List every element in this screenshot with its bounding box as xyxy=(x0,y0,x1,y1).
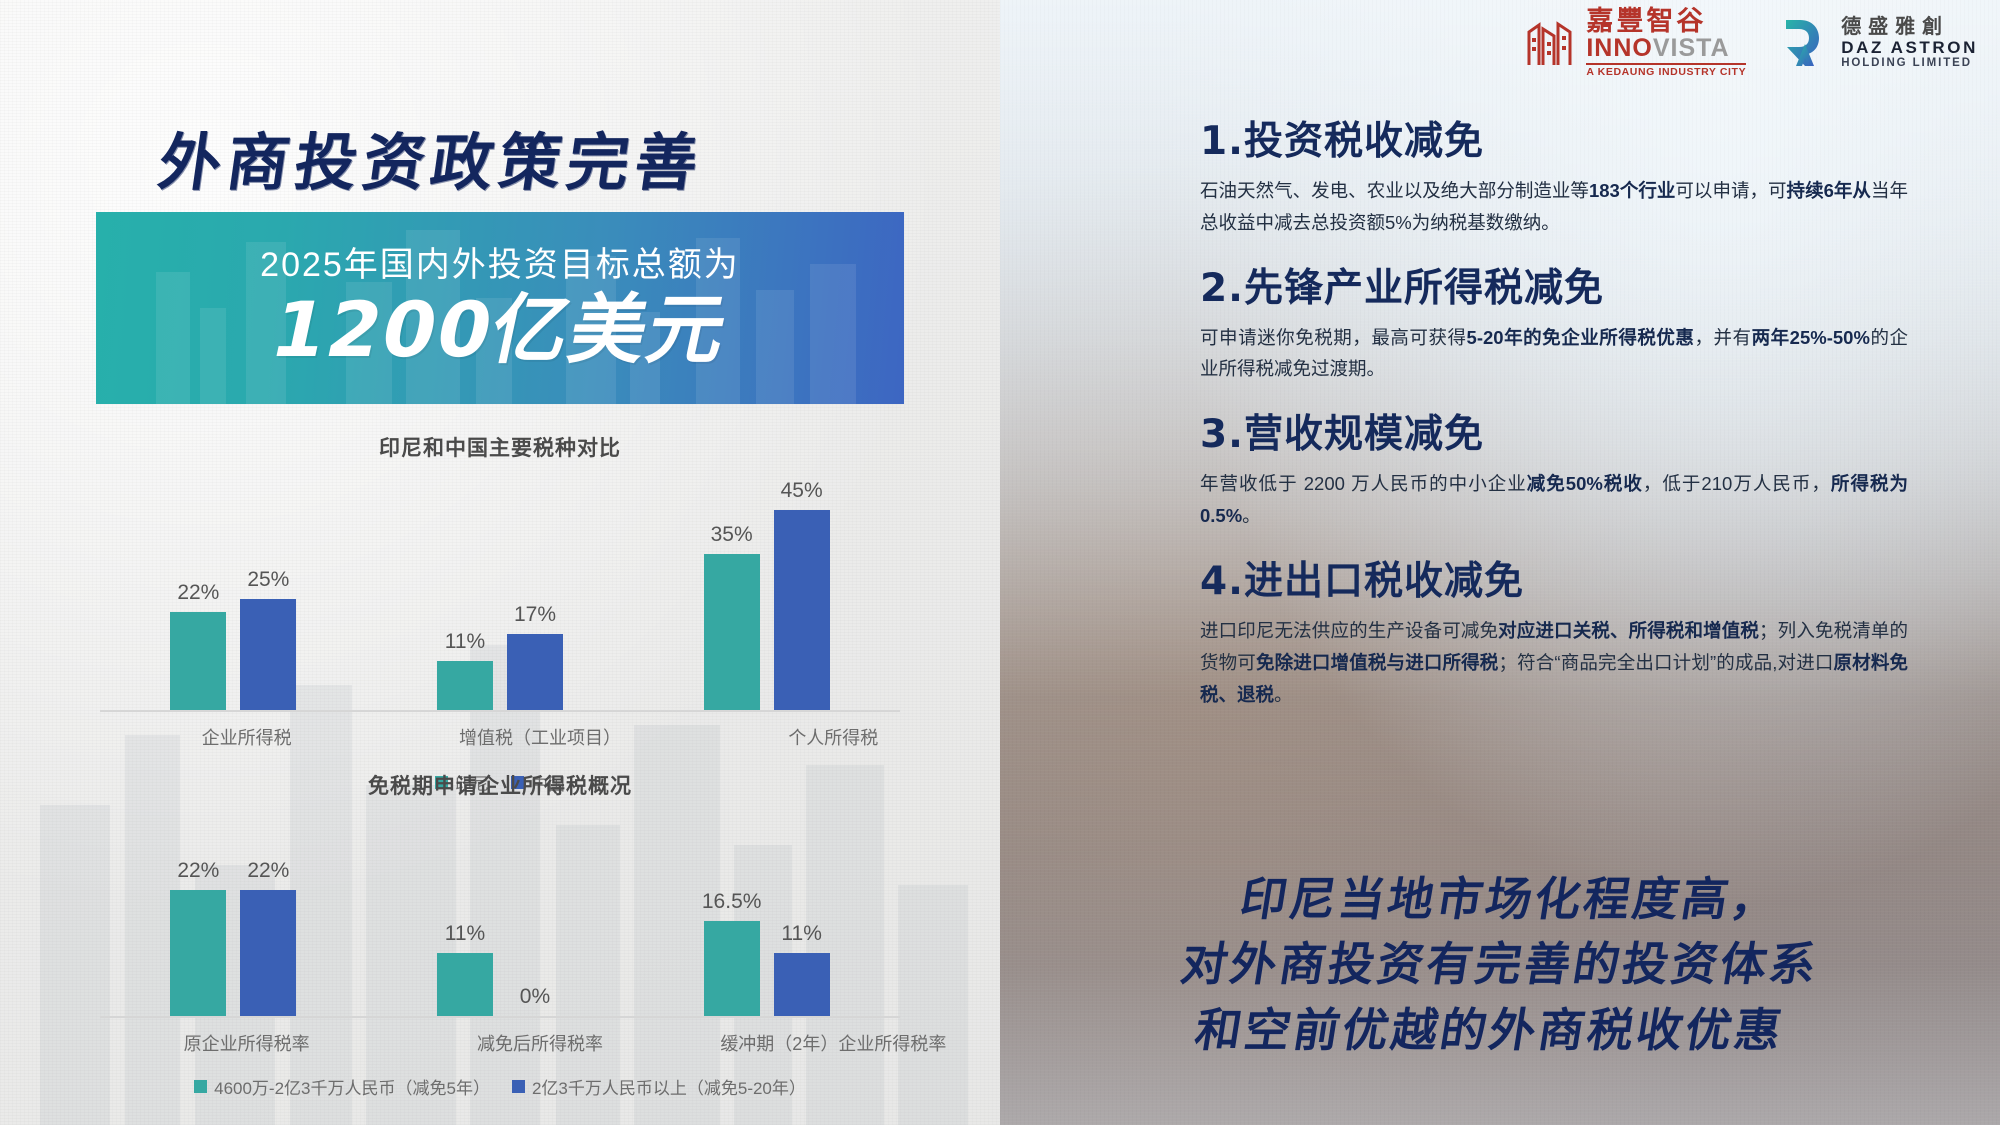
x-label: 缓冲期（2年）企业所得税率 xyxy=(688,1030,978,1056)
legend-swatch-icon xyxy=(512,1080,525,1093)
legend-label: 4600万-2亿3千万人民币（减免5年） xyxy=(214,1074,490,1099)
body-bold: 免除进口增值税与进口所得税 xyxy=(1256,652,1499,673)
bar-group: 22% 25% xyxy=(170,599,296,710)
body-text: 年营收低于 2200 万人民币的中小企业 xyxy=(1200,473,1527,494)
bar-value-label: 45% xyxy=(781,479,823,503)
banner-subtitle: 2025年国内外投资目标总额为 xyxy=(96,237,904,286)
bar-group: 11% 17% xyxy=(437,634,563,710)
body-text: ，并有 xyxy=(1694,327,1751,348)
bar-group: 22% 22% xyxy=(170,890,296,1016)
innovista-building-icon xyxy=(1524,16,1578,70)
bar-value-label: 35% xyxy=(711,523,753,547)
x-label: 个人所得税 xyxy=(688,724,978,750)
chart-1-bars: 22% 25% 11% xyxy=(100,512,900,710)
daz-astron-cn-name: 德盛雅創 xyxy=(1841,15,1978,38)
bar-value-label: 0% xyxy=(520,985,550,1009)
body-bold: 减免50%税收 xyxy=(1527,473,1643,494)
chart-1-title: 印尼和中国主要税种对比 xyxy=(60,432,940,462)
body-text: 进口印尼无法供应的生产设备可减免 xyxy=(1200,620,1498,641)
bar-item[interactable]: 22% xyxy=(170,890,226,1016)
daz-astron-subtitle: HOLDING LIMITED xyxy=(1841,57,1978,70)
bar-blue xyxy=(240,599,296,710)
x-label: 增值税（工业项目） xyxy=(395,724,685,750)
bar-teal xyxy=(704,921,760,1016)
x-label: 原企业所得税率 xyxy=(101,1030,391,1056)
section-body: 进口印尼无法供应的生产设备可减免对应进口关税、所得税和增值税；列入免税清单的货物… xyxy=(1200,615,1908,710)
policy-section-4: 4.进出口税收减免 进口印尼无法供应的生产设备可减免对应进口关税、所得税和增值税… xyxy=(1200,550,1908,710)
body-text: 可申请迷你免税期，最高可获得 xyxy=(1200,327,1467,348)
bar-item[interactable]: 17% xyxy=(507,634,563,710)
bar-value-label: 17% xyxy=(514,603,556,627)
bar-value-label: 16.5% xyxy=(702,890,762,914)
bar-item[interactable]: 22% xyxy=(170,612,226,710)
bar-teal xyxy=(170,890,226,1016)
body-bold: 183个行业 xyxy=(1589,180,1675,201)
policy-section-1: 1.投资税收减免 石油天然气、发电、农业以及绝大部分制造业等183个行业可以申请… xyxy=(1200,110,1908,239)
left-panel: 外商投资政策完善 2025年国内外投资目标总额为 1200 xyxy=(0,0,1000,1125)
conclusion-line-1: 印尼当地市场化程度高， xyxy=(1005,867,2000,932)
body-text: 可以申请，可 xyxy=(1675,180,1786,201)
conclusion-block: 印尼当地市场化程度高， 对外商投资有完善的投资体系 和空前优越的外商税收优惠 xyxy=(1000,867,2000,1063)
innovista-tagline: A KEDAUNG INDUSTRY CITY xyxy=(1586,63,1746,78)
bar-group: 16.5% 11% xyxy=(704,921,830,1016)
section-body: 年营收低于 2200 万人民币的中小企业减免50%税收，低于210万人民币，所得… xyxy=(1200,468,1908,532)
chart-1: 印尼和中国主要税种对比 22% 25% xyxy=(60,432,940,795)
body-bold: 持续6年从 xyxy=(1787,180,1871,201)
chart-1-axis xyxy=(100,710,900,712)
body-bold: 5-20年的免企业所得税优惠 xyxy=(1467,327,1695,348)
chart-2-title: 免税期申请企业所得税概况 xyxy=(60,770,940,800)
infographic-page: 外商投资政策完善 2025年国内外投资目标总额为 1200 xyxy=(0,0,2000,1125)
bar-value-label: 11% xyxy=(445,922,485,946)
body-bold: 两年25%-50% xyxy=(1752,327,1870,348)
legend-item[interactable]: 2亿3千万人民币以上（减免5-20年） xyxy=(512,1074,806,1099)
policy-section-3: 3.营收规模减免 年营收低于 2200 万人民币的中小企业减免50%税收，低于2… xyxy=(1200,403,1908,532)
section-heading: 3.营收规模减免 xyxy=(1200,403,1908,459)
section-heading: 2.先锋产业所得税减免 xyxy=(1200,257,1908,313)
chart-2: 免税期申请企业所得税概况 22% 22% xyxy=(60,770,940,1099)
chart-2-bars: 22% 22% 11% xyxy=(100,846,900,1016)
bar-group: 35% 45% xyxy=(704,510,830,710)
chart-2-legend: 4600万-2亿3千万人民币（减免5年） 2亿3千万人民币以上（减免5-20年） xyxy=(60,1074,940,1099)
bar-teal xyxy=(704,554,760,710)
bar-item[interactable]: 22% xyxy=(240,890,296,1016)
banner-amount: 1200亿美元 xyxy=(96,290,904,370)
section-body: 石油天然气、发电、农业以及绝大部分制造业等183个行业可以申请，可持续6年从当年… xyxy=(1200,175,1908,239)
body-text: 。 xyxy=(1274,684,1293,705)
daz-astron-mark-icon xyxy=(1772,14,1830,72)
chart-2-plot: 22% 22% 11% xyxy=(60,846,940,1018)
conclusion-line-3: 和空前优越的外商税收优惠 xyxy=(1000,998,1995,1063)
body-text: ；符合“商品完全出口计划”的成品,对进口 xyxy=(1498,652,1833,673)
legend-swatch-icon xyxy=(194,1080,207,1093)
bar-value-label: 11% xyxy=(445,630,485,654)
body-text: 石油天然气、发电、农业以及绝大部分制造业等 xyxy=(1200,180,1589,201)
x-label: 企业所得税 xyxy=(101,724,391,750)
bar-item[interactable]: 35% xyxy=(704,554,760,710)
innovista-en-2: VISTA xyxy=(1653,34,1730,62)
legend-item[interactable]: 4600万-2亿3千万人民币（减免5年） xyxy=(194,1074,490,1099)
bar-blue xyxy=(774,953,830,1016)
bar-blue xyxy=(774,510,830,710)
chart-1-plot: 22% 25% 11% xyxy=(60,512,940,712)
bar-value-label: 22% xyxy=(247,859,289,883)
bar-item[interactable]: 11% xyxy=(437,661,493,710)
innovista-en-1: INNO xyxy=(1586,34,1653,62)
headline-banner: 2025年国内外投资目标总额为 1200亿美元 xyxy=(96,212,904,404)
section-heading: 4.进出口税收减免 xyxy=(1200,550,1908,606)
bar-value-label: 22% xyxy=(177,581,219,605)
bar-value-label: 11% xyxy=(781,922,821,946)
bar-item[interactable]: 11% xyxy=(437,953,493,1016)
section-body: 可申请迷你免税期，最高可获得5-20年的免企业所得税优惠，并有两年25%-50%… xyxy=(1200,322,1908,386)
bar-item[interactable]: 16.5% xyxy=(704,921,760,1016)
conclusion-line-2: 对外商投资有完善的投资体系 xyxy=(1000,932,2000,997)
innovista-cn-name: 嘉豐智谷 xyxy=(1586,8,1746,35)
bar-blue xyxy=(507,634,563,710)
body-text: 。 xyxy=(1242,505,1261,526)
chart-1-x-labels: 企业所得税 增值税（工业项目） 个人所得税 xyxy=(100,724,980,750)
x-label: 减免后所得税率 xyxy=(395,1030,685,1056)
bar-item[interactable]: 25% xyxy=(240,599,296,710)
chart-2-x-labels: 原企业所得税率 减免后所得税率 缓冲期（2年）企业所得税率 xyxy=(100,1030,980,1056)
bar-value-label: 25% xyxy=(247,568,289,592)
daz-astron-en-name: DAZ ASTRON xyxy=(1841,38,1978,58)
bar-value-label: 22% xyxy=(177,859,219,883)
section-heading: 1.投资税收减免 xyxy=(1200,110,1908,166)
policy-section-2: 2.先锋产业所得税减免 可申请迷你免税期，最高可获得5-20年的免企业所得税优惠… xyxy=(1200,257,1908,386)
bar-blue xyxy=(240,890,296,1016)
bar-group: 11% 0% xyxy=(437,953,563,1016)
bar-item[interactable]: 11% xyxy=(774,953,830,1016)
bar-item[interactable]: 45% xyxy=(774,510,830,710)
logo-daz-astron: 德盛雅創 DAZ ASTRON HOLDING LIMITED xyxy=(1772,14,1978,72)
page-title: 外商投资政策完善 xyxy=(154,112,711,202)
body-bold: 对应进口关税、所得税和增值税 xyxy=(1498,620,1759,641)
policy-sections: 1.投资税收减免 石油天然气、发电、农业以及绝大部分制造业等183个行业可以申请… xyxy=(1200,110,1908,728)
bar-teal xyxy=(437,953,493,1016)
bar-teal xyxy=(170,612,226,710)
chart-2-axis xyxy=(100,1016,900,1018)
body-text: ，低于210万人民币， xyxy=(1643,473,1831,494)
logo-innovista: 嘉豐智谷 INNOVISTA A KEDAUNG INDUSTRY CITY xyxy=(1524,8,1746,78)
bar-teal xyxy=(437,661,493,710)
logo-bar: 嘉豐智谷 INNOVISTA A KEDAUNG INDUSTRY CITY xyxy=(1524,8,1978,78)
legend-label: 2亿3千万人民币以上（减免5-20年） xyxy=(532,1074,806,1099)
right-panel: 嘉豐智谷 INNOVISTA A KEDAUNG INDUSTRY CITY xyxy=(1000,0,2000,1125)
